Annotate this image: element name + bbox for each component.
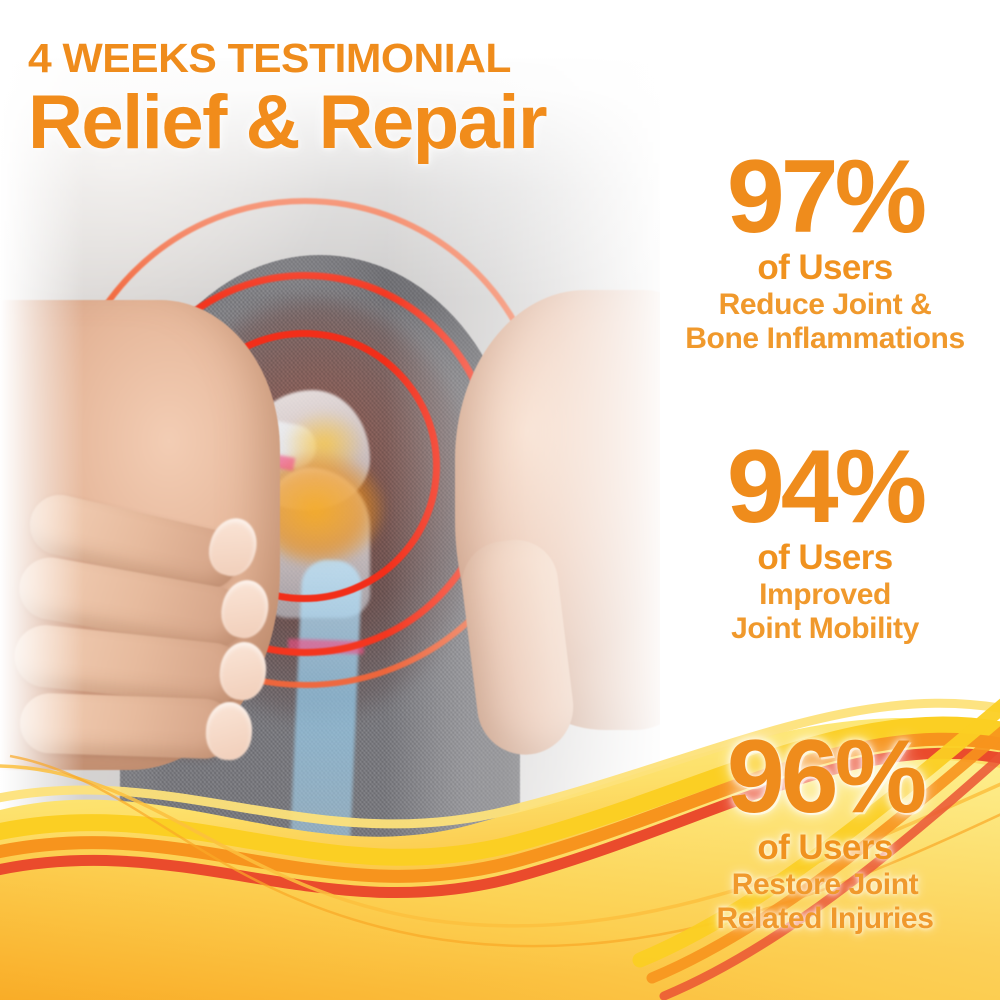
stat-percent: 97% bbox=[650, 150, 1000, 246]
headline-kicker: 4 WEEKS TESTIMONIAL bbox=[28, 38, 756, 79]
stat-users-label: of Users bbox=[650, 250, 1000, 287]
testimonial-poster: 4 WEEKS TESTIMONIAL Relief & Repair 97% … bbox=[0, 0, 1000, 1000]
stat-percent: 96% bbox=[650, 730, 1000, 826]
stat-users-label: of Users bbox=[650, 830, 1000, 867]
headline-title: Relief & Repair bbox=[28, 85, 728, 161]
stat-item-1: 97% of Users Reduce Joint & Bone Inflamm… bbox=[650, 150, 1000, 356]
stat-description: Reduce Joint & Bone Inflammations bbox=[650, 288, 1000, 355]
stat-item-2: 94% of Users Improved Joint Mobility bbox=[650, 440, 1000, 646]
stat-users-label: of Users bbox=[650, 540, 1000, 577]
stat-item-3: 96% of Users Restore Joint Related Injur… bbox=[650, 730, 1000, 936]
stat-description: Improved Joint Mobility bbox=[650, 578, 1000, 645]
stat-percent: 94% bbox=[650, 440, 1000, 536]
stat-description: Restore Joint Related Injuries bbox=[650, 868, 1000, 935]
headline-block: 4 WEEKS TESTIMONIAL Relief & Repair bbox=[28, 38, 728, 161]
